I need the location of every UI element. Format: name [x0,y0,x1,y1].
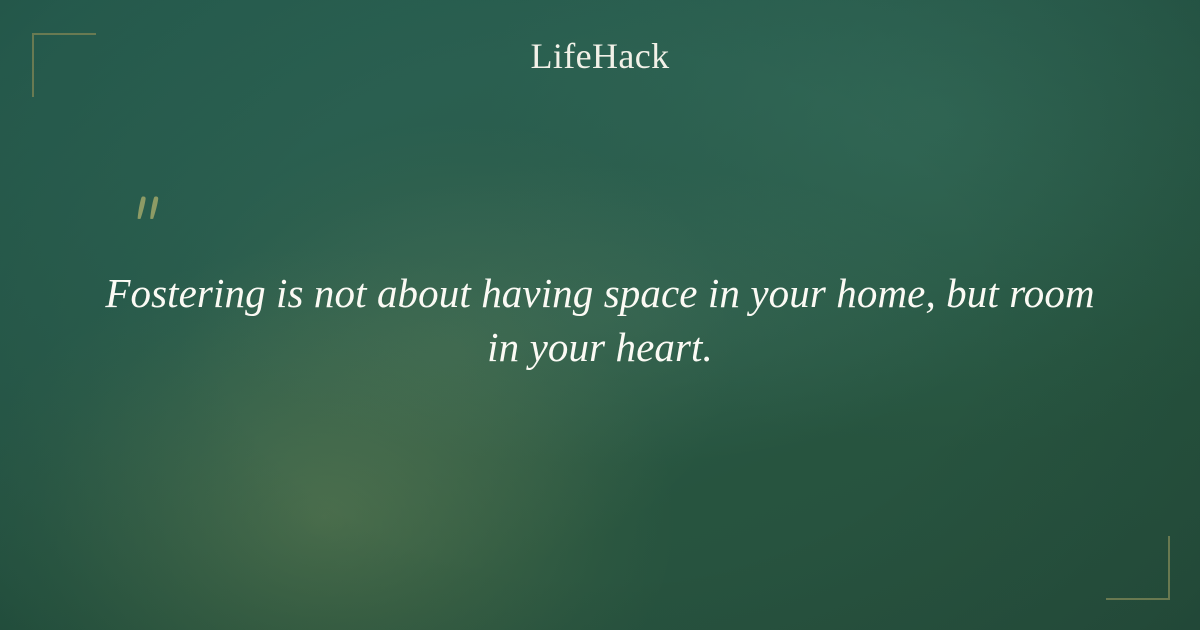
quote-mark-icon [128,188,188,248]
quote-block: Fostering is not about having space in y… [100,266,1100,374]
brand-logo: LifeHack [0,38,1200,74]
quote-text: Fostering is not about having space in y… [100,266,1100,374]
quote-card: LifeHack Fostering is not about having s… [0,0,1200,630]
corner-bracket-bottom-right-icon [1106,536,1170,600]
